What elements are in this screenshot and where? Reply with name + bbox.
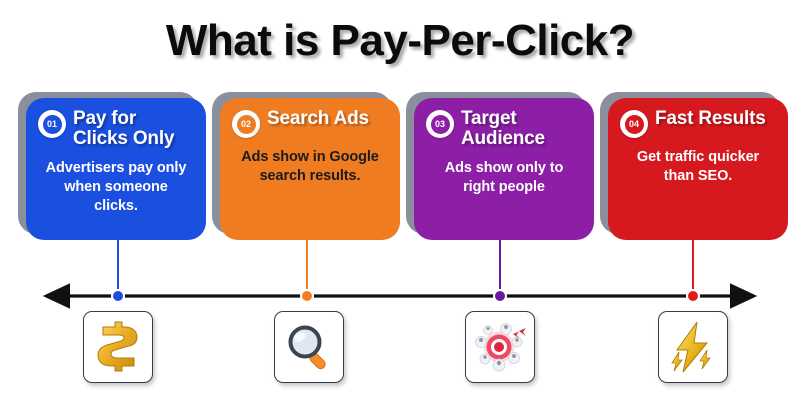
card-02-header: 02 Search Ads — [232, 108, 388, 138]
card-04-number-badge: 04 — [620, 110, 648, 138]
card-02-title: Search Ads — [267, 108, 369, 129]
card-03-body: 03 Target Audience Ads show only to righ… — [414, 98, 594, 240]
card-04-header: 04 Fast Results — [620, 108, 776, 138]
card-01-description: Advertisers pay only when someone clicks… — [38, 159, 194, 217]
card-03-number: 03 — [435, 120, 445, 129]
card-02-number-badge: 02 — [232, 110, 260, 138]
card-02-body: 02 Search Ads Ads show in Google search … — [220, 98, 400, 240]
card-03-title: Target Audience — [461, 108, 582, 149]
icon-box-03[interactable] — [465, 311, 535, 383]
connector-line-04 — [692, 240, 694, 296]
magnifying-glass-icon — [283, 321, 335, 373]
connector-line-03 — [499, 240, 501, 296]
card-01-body: 01 Pay for Clicks Only Advertisers pay o… — [26, 98, 206, 240]
card-03[interactable]: 03 Target Audience Ads show only to righ… — [406, 92, 592, 240]
card-01-number-badge: 01 — [38, 110, 66, 138]
card-01-header: 01 Pay for Clicks Only — [38, 108, 194, 149]
card-03-number-badge: 03 — [426, 110, 454, 138]
ppc-infographic: What is Pay-Per-Click? 01 Pay for Clicks… — [0, 0, 800, 400]
card-03-header: 03 Target Audience — [426, 108, 582, 149]
icon-box-01[interactable] — [83, 311, 153, 383]
card-01-title: Pay for Clicks Only — [73, 108, 194, 149]
card-04-title: Fast Results — [655, 108, 766, 129]
card-04[interactable]: 04 Fast Results Get traffic quicker than… — [600, 92, 786, 240]
card-04-body: 04 Fast Results Get traffic quicker than… — [608, 98, 788, 240]
icon-box-04[interactable] — [658, 311, 728, 383]
lightning-bolt-icon — [667, 319, 719, 375]
target-audience-icon — [472, 320, 528, 374]
card-02[interactable]: 02 Search Ads Ads show in Google search … — [212, 92, 398, 240]
card-04-description: Get traffic quicker than SEO. — [620, 148, 776, 187]
page-title: What is Pay-Per-Click? — [0, 16, 800, 66]
axis-dot-04[interactable] — [686, 289, 700, 303]
card-02-number: 02 — [241, 120, 251, 129]
dollar-sign-icon — [91, 319, 145, 375]
connector-line-01 — [117, 240, 119, 296]
card-03-description: Ads show only to right people — [426, 159, 582, 198]
axis-dot-03[interactable] — [493, 289, 507, 303]
axis-dot-02[interactable] — [300, 289, 314, 303]
card-04-number: 04 — [629, 120, 639, 129]
icon-box-02[interactable] — [274, 311, 344, 383]
axis-dot-01[interactable] — [111, 289, 125, 303]
card-02-description: Ads show in Google search results. — [232, 148, 388, 187]
connector-line-02 — [306, 240, 308, 296]
card-01[interactable]: 01 Pay for Clicks Only Advertisers pay o… — [18, 92, 204, 240]
card-01-number: 01 — [47, 120, 57, 129]
